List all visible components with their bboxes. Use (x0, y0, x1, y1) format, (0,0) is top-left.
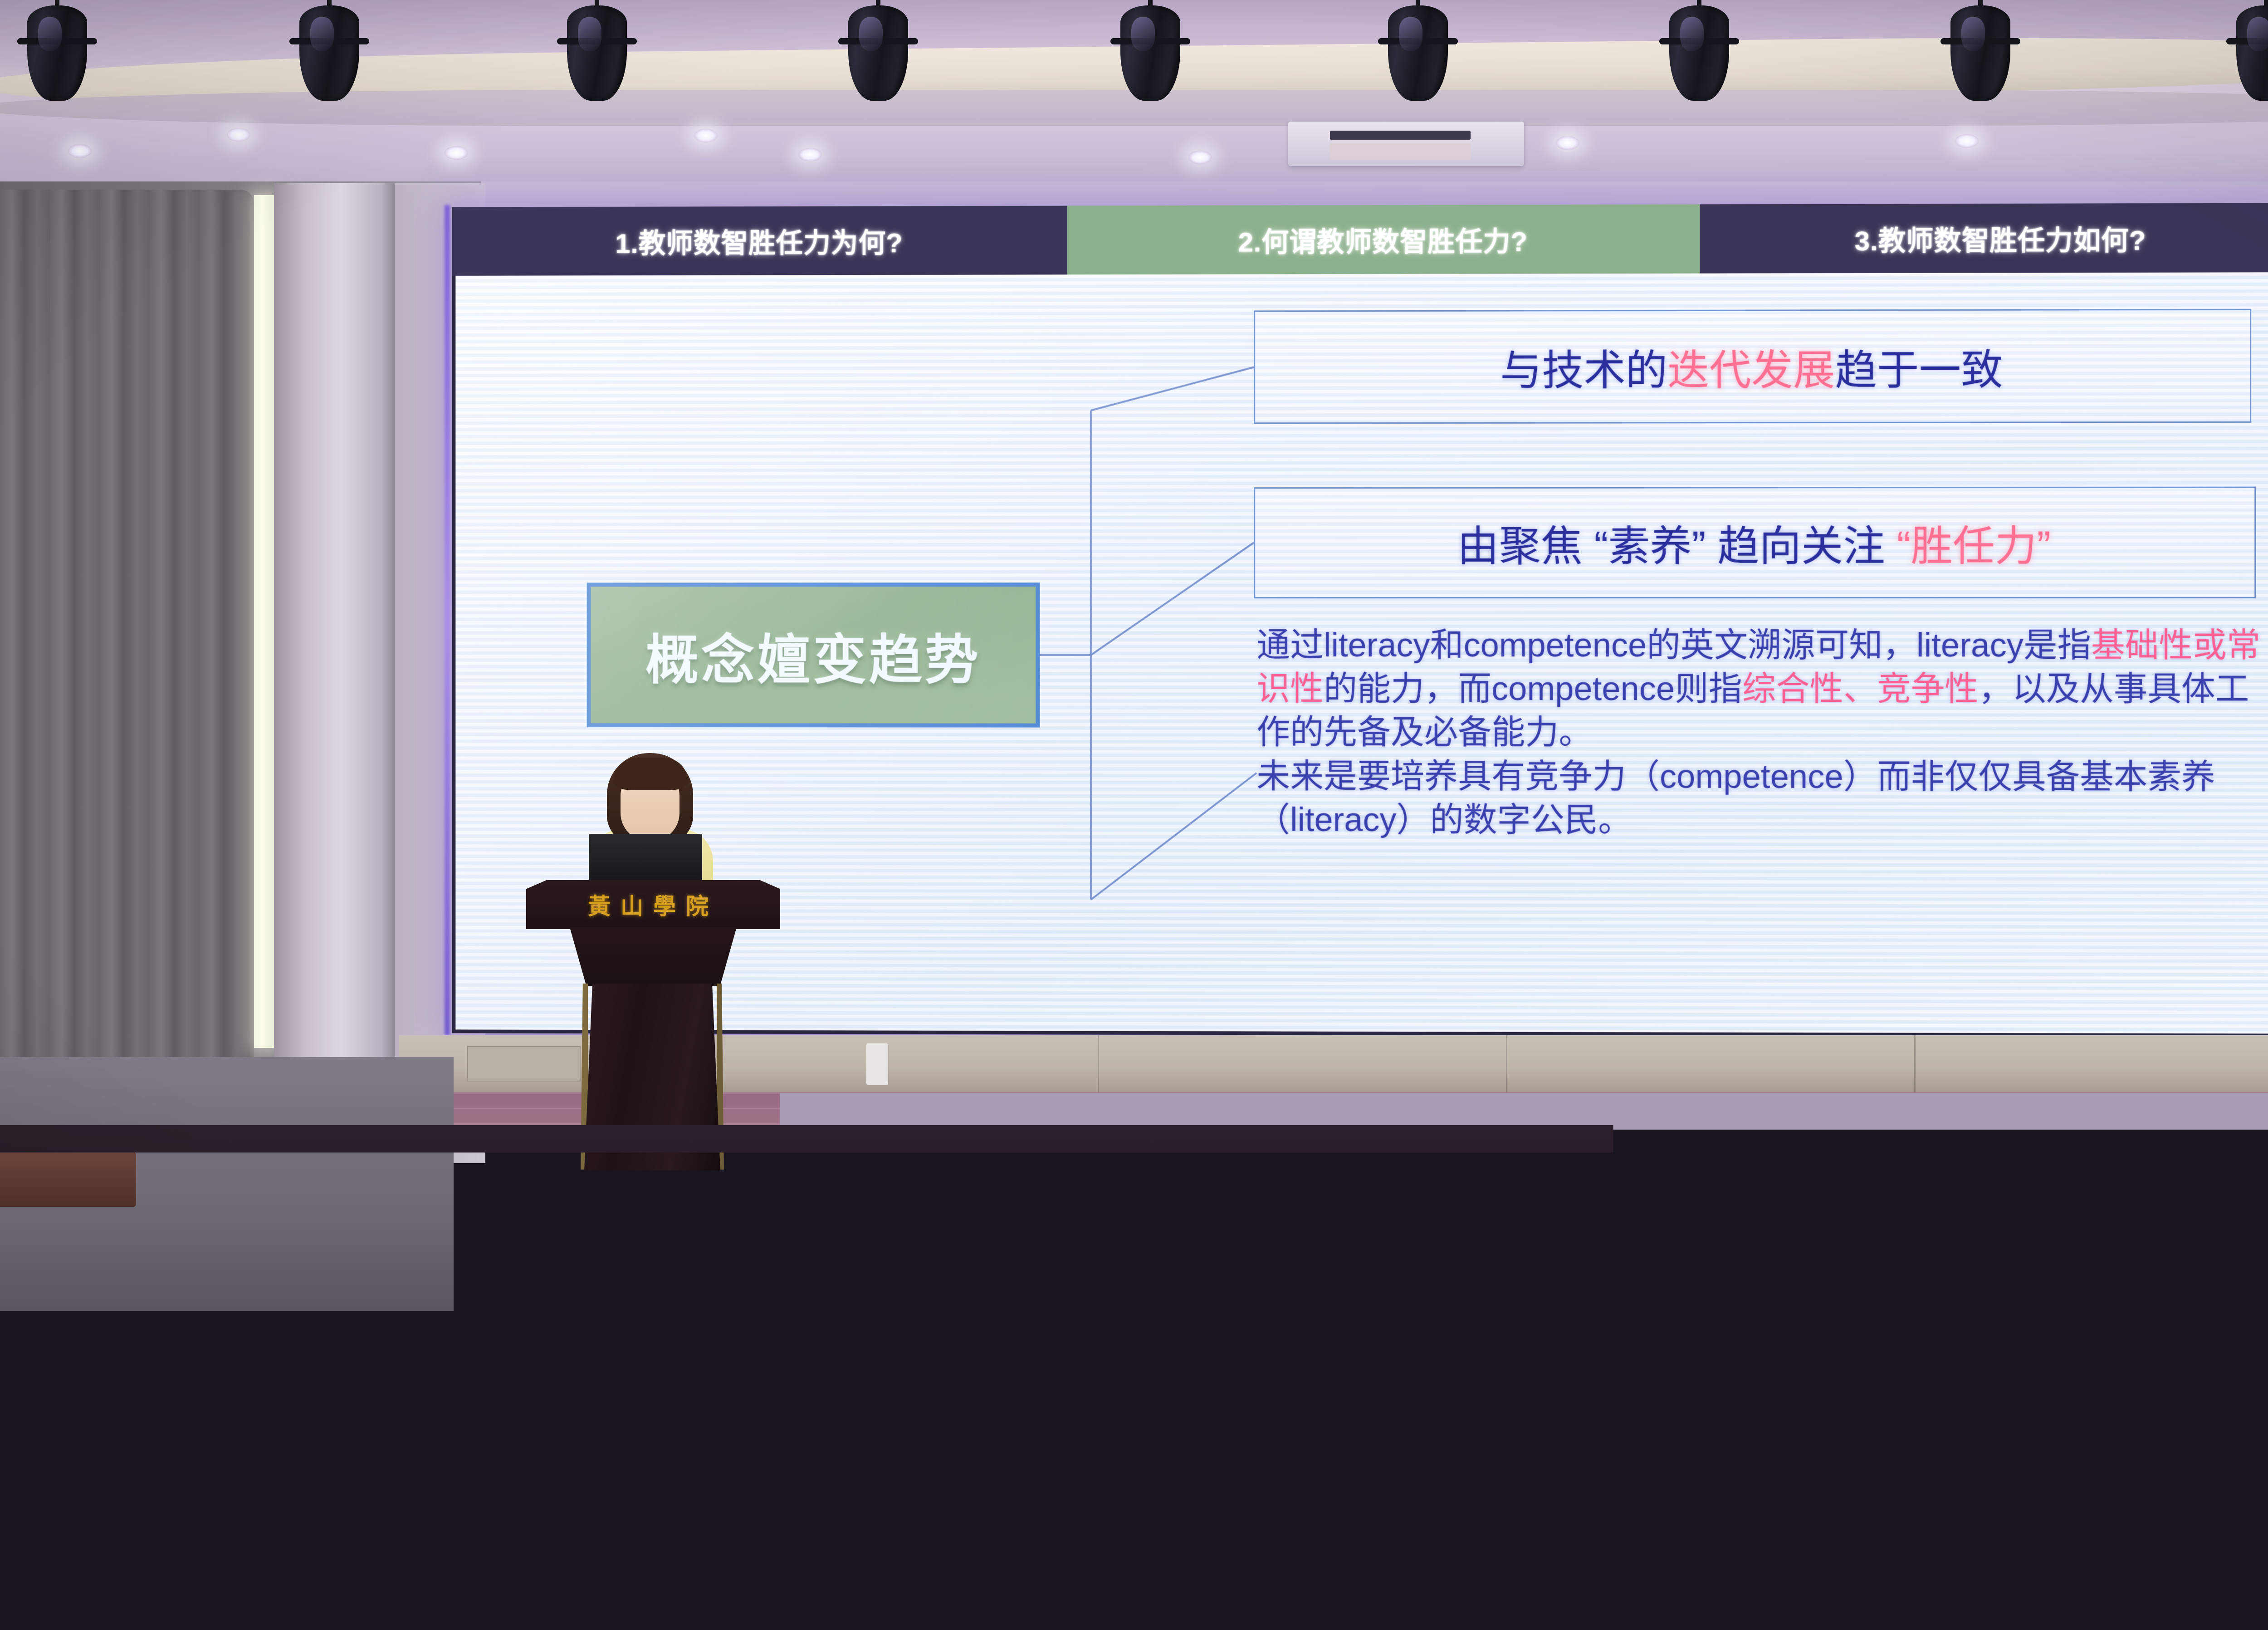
audience-head (1647, 1261, 1727, 1356)
diagram-node-concept-trend[interactable]: 概念嬗变趋势 (587, 582, 1040, 727)
audience-head (767, 1256, 850, 1353)
audience-head (1012, 1178, 1084, 1259)
auditorium-scene: 1.教师数智胜任力为何? 2.何谓教师数智胜任力? 3.教师数智胜任力如何? (0, 0, 2268, 1630)
audience-head (921, 1443, 1066, 1620)
branch-2-seg-2-highlight: “胜任力” (1897, 523, 2051, 569)
audience-head (544, 1179, 617, 1259)
audience-head (2041, 1447, 2184, 1622)
seat[interactable]: 17 (2132, 1270, 2268, 1384)
seat[interactable]: 17 (1778, 1270, 1937, 1384)
tab-section-3-label: 3.教师数智胜任力如何? (1854, 218, 2146, 259)
diagram-explanatory-paragraph: 通过literacy和competence的英文溯源可知，literacy是指基… (1256, 623, 2268, 842)
ceiling-downlight (227, 128, 250, 142)
slide-section-tabs: 1.教师数智胜任力为何? 2.何谓教师数智胜任力? 3.教师数智胜任力如何? (452, 203, 2268, 276)
podium-neck (570, 927, 737, 986)
audience-head (1941, 1180, 2012, 1259)
audience-head (2096, 1178, 2168, 1259)
seat-number-badge: 17 (1838, 1317, 1877, 1342)
branch-2-seg-1: 由聚焦 “素养” 趋向关注 (1457, 523, 1897, 570)
branch-1-seg-1: 与技术的 (1500, 348, 1667, 394)
paragraph-line-1: 通过literacy和competence的英文溯源可知，literacy是指基… (1256, 623, 2268, 755)
audience-head (98, 1180, 166, 1257)
speaker-fringe (613, 758, 688, 790)
tab-section-3[interactable]: 3.教师数智胜任力如何? (1700, 203, 2268, 273)
seat-number-badge: 16 (1484, 1317, 1523, 1342)
screen-glow-left (445, 205, 450, 1035)
diagram-branch-box-1[interactable]: 与技术的迭代发展趋于一致 (1254, 309, 2251, 424)
para-1-seg-1: 通过literacy和competence的英文溯源可知，literacy是指 (1256, 626, 2091, 664)
ceiling-downlight (1188, 151, 1212, 164)
tab-section-1[interactable]: 1.教师数智胜任力为何? (452, 206, 1067, 276)
seat[interactable]: 16 (1424, 1270, 1583, 1384)
ceiling-downlight (694, 129, 718, 142)
audience-head (1297, 1256, 1381, 1353)
audience-head (145, 1361, 245, 1479)
podium-institution-name: 黃山學院 (526, 888, 780, 921)
tab-section-1-label: 1.教师数智胜任力为何? (615, 221, 903, 261)
seat-number-badge: 17 (2192, 1317, 2231, 1342)
ceiling-ac-vent (1288, 122, 1524, 166)
audience-head (236, 1260, 317, 1355)
audience-head (413, 1258, 495, 1354)
wall-switch (866, 1043, 888, 1085)
podium-monitor (589, 834, 702, 885)
audience-head (59, 1257, 141, 1352)
ceiling-downlight (798, 148, 822, 162)
tab-section-2-label: 2.何谓教师数智胜任力? (1238, 220, 1528, 259)
audience-head (2005, 1258, 2087, 1354)
audience-head (1161, 1180, 1232, 1260)
audience-head (1783, 1176, 1857, 1259)
audience-head (1719, 1361, 1821, 1480)
audience-head (590, 1261, 670, 1355)
paragraph-line-2: 未来是要培养具有竞争力（competence）而非仅仅具备基本素养（litera… (1256, 754, 2268, 842)
diagram-branch-box-2[interactable]: 由聚焦 “素养” 趋向关注 “胜任力” (1254, 487, 2256, 598)
ceiling-downlight (68, 144, 92, 158)
seat-number-badge: 11 (51, 1442, 89, 1468)
tab-section-2[interactable]: 2.何谓教师数智胜任力? (1067, 204, 1700, 274)
audience-head (247, 1183, 315, 1260)
stage-curtain (0, 190, 254, 1079)
audience-head (1120, 1258, 1202, 1354)
audience-head (1315, 1179, 1388, 1260)
diagram-node-label: 概念嬗变趋势 (645, 617, 981, 694)
ceiling-downlight (1955, 134, 1979, 148)
branch-1-seg-2-highlight: 迭代发展 (1667, 347, 1835, 394)
audience-head (1633, 1180, 1704, 1259)
audience-head (372, 1452, 513, 1624)
branch-1-seg-3: 趋于一致 (1835, 347, 2003, 393)
audience-head (708, 1182, 776, 1259)
seat[interactable] (894, 1270, 1052, 1384)
audience-head (1923, 1359, 2024, 1479)
wall-light-strip (254, 195, 275, 1048)
ceiling-downlight (1556, 136, 1579, 150)
audience-head (1352, 1456, 1490, 1624)
audience-seating: 16 17 17 11 (0, 1125, 2268, 1630)
audience-head (1057, 1357, 1160, 1480)
ceiling-downlight (445, 146, 468, 160)
para-2-seg-1: 未来是要培养具有竞争力（competence）而非仅仅具备基本素养（litera… (1256, 757, 2215, 838)
audience-head (658, 1366, 757, 1481)
para-1-seg-4-highlight: 综合性、竞争性 (1742, 670, 1979, 707)
hall-pillar (274, 183, 396, 1159)
para-1-seg-3: 的能力，而competence则指 (1324, 670, 1742, 707)
